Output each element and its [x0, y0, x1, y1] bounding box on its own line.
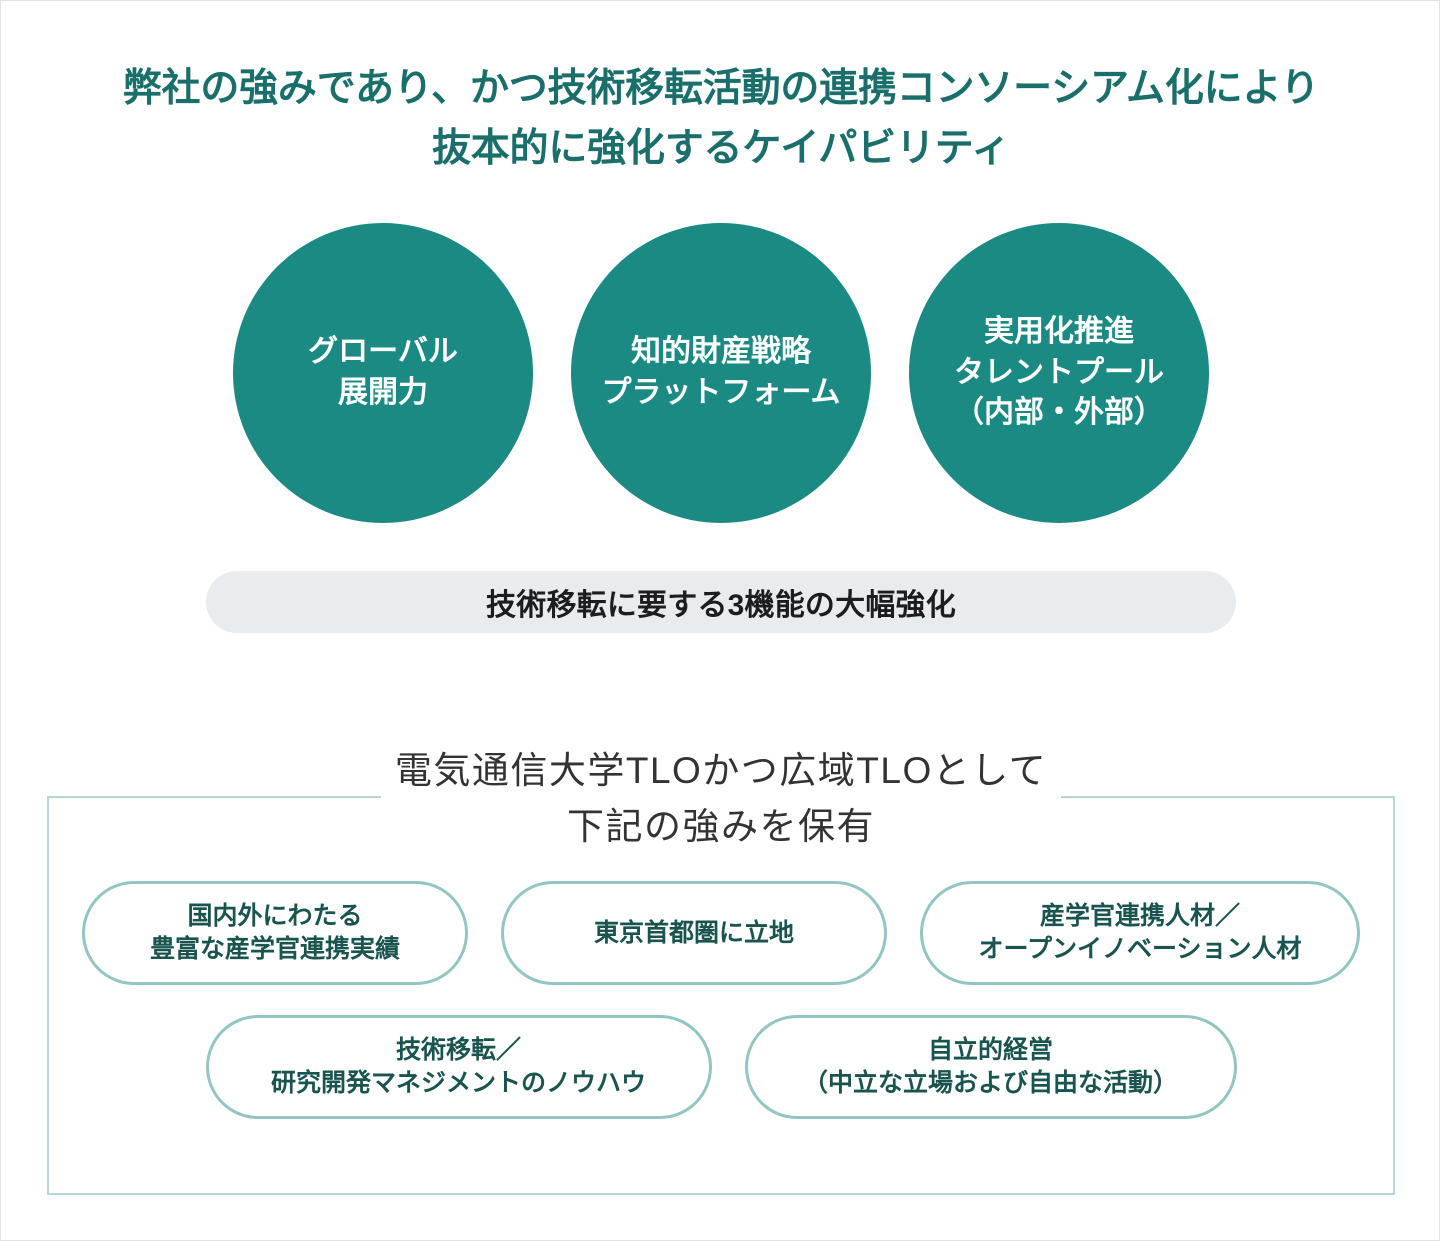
capability-circle-line-1: グローバル [308, 332, 458, 373]
strength-pill-line-1: 産学官連携人材／ [1040, 900, 1240, 933]
capability-circle-line-1: 知的財産戦略 [631, 332, 811, 373]
strength-pill-rows: 国内外にわたる 豊富な産学官連携実績 東京首都圏に立地 産学官連携人材／ オープ… [47, 881, 1395, 1149]
strength-pill-domestic-overseas-collaboration: 国内外にわたる 豊富な産学官連携実績 [82, 881, 468, 985]
strength-pill-line-1: 自立的経営 [928, 1034, 1053, 1067]
capability-circle-global-expansion: グローバル 展開力 [233, 223, 533, 523]
strength-pill-line-1: 国内外にわたる [187, 900, 362, 933]
capability-circle-line-2: 展開力 [338, 373, 428, 414]
strength-pill-industry-academia-government-talent: 産学官連携人材／ オープンイノベーション人材 [920, 881, 1360, 985]
summary-banner: 技術移転に要する3機能の大幅強化 [206, 571, 1236, 633]
strength-pill-row-1: 国内外にわたる 豊富な産学官連携実績 東京首都圏に立地 産学官連携人材／ オープ… [47, 881, 1395, 985]
strength-pill-line-2: 豊富な産学官連携実績 [150, 933, 400, 966]
slide-canvas: 弊社の強みであり、かつ技術移転活動の連携コンソーシアム化により 抜本的に強化する… [0, 0, 1440, 1241]
summary-banner-label: 技術移転に要する3機能の大幅強化 [486, 580, 956, 624]
strength-pill-line-1: 東京首都圏に立地 [594, 917, 794, 950]
capability-circle-ip-strategy-platform: 知的財産戦略 プラットフォーム [571, 223, 871, 523]
capability-circle-line-3: （内部・外部） [954, 393, 1164, 434]
page-title-line-1: 弊社の強みであり、かつ技術移転活動の連携コンソーシアム化により [1, 59, 1440, 119]
capability-circle-line-2: タレントプール [954, 353, 1164, 394]
strength-pill-tokyo-metropolitan-location: 東京首都圏に立地 [501, 881, 887, 985]
capability-circle-group: グローバル 展開力 知的財産戦略 プラットフォーム 実用化推進 タレントプール … [1, 223, 1440, 523]
strengths-heading-line-1: 電気通信大学TLOかつ広域TLOとして [381, 743, 1061, 799]
strength-pill-line-2: オープンイノベーション人材 [978, 933, 1301, 966]
strength-pill-line-2: （中立な立場および自由な活動） [803, 1067, 1178, 1100]
capability-circle-line-1: 実用化推進 [984, 312, 1134, 353]
page-title: 弊社の強みであり、かつ技術移転活動の連携コンソーシアム化により 抜本的に強化する… [1, 59, 1440, 180]
strength-pill-line-2: 研究開発マネジメントのノウハウ [271, 1067, 646, 1100]
strength-pill-line-1: 技術移転／ [396, 1034, 521, 1067]
strength-pill-row-2: 技術移転／ 研究開発マネジメントのノウハウ 自立的経営 （中立な立場および自由な… [47, 1015, 1395, 1119]
page-title-line-2: 抜本的に強化するケイパビリティ [1, 119, 1440, 179]
strength-pill-tech-transfer-rd-management-knowhow: 技術移転／ 研究開発マネジメントのノウハウ [206, 1015, 712, 1119]
capability-circle-commercialization-talent-pool: 実用化推進 タレントプール （内部・外部） [909, 223, 1209, 523]
strength-pill-independent-management: 自立的経営 （中立な立場および自由な活動） [745, 1015, 1237, 1119]
capability-circle-line-2: プラットフォーム [601, 373, 840, 414]
